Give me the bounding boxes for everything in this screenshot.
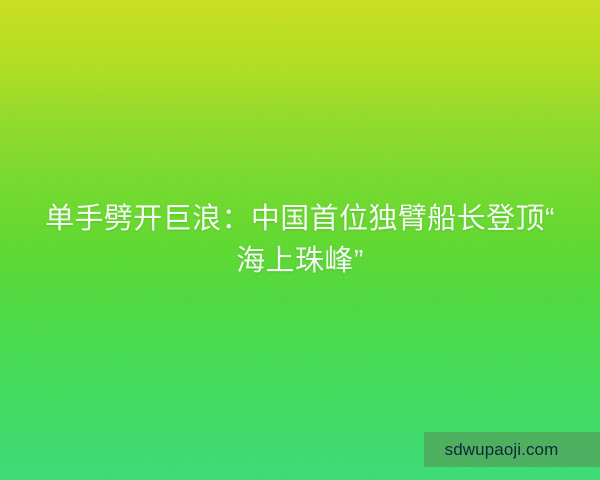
page-title: 单手劈开巨浪：中国首位独臂船长登顶“ 海上珠峰” (0, 198, 600, 282)
watermark-site-label: sdwupaoji.com (424, 432, 579, 467)
watermark-plate: sdwupaoji.com (424, 432, 600, 467)
cover-image: 单手劈开巨浪：中国首位独臂船长登顶“ 海上珠峰” sdwupaoji.com (0, 0, 600, 480)
